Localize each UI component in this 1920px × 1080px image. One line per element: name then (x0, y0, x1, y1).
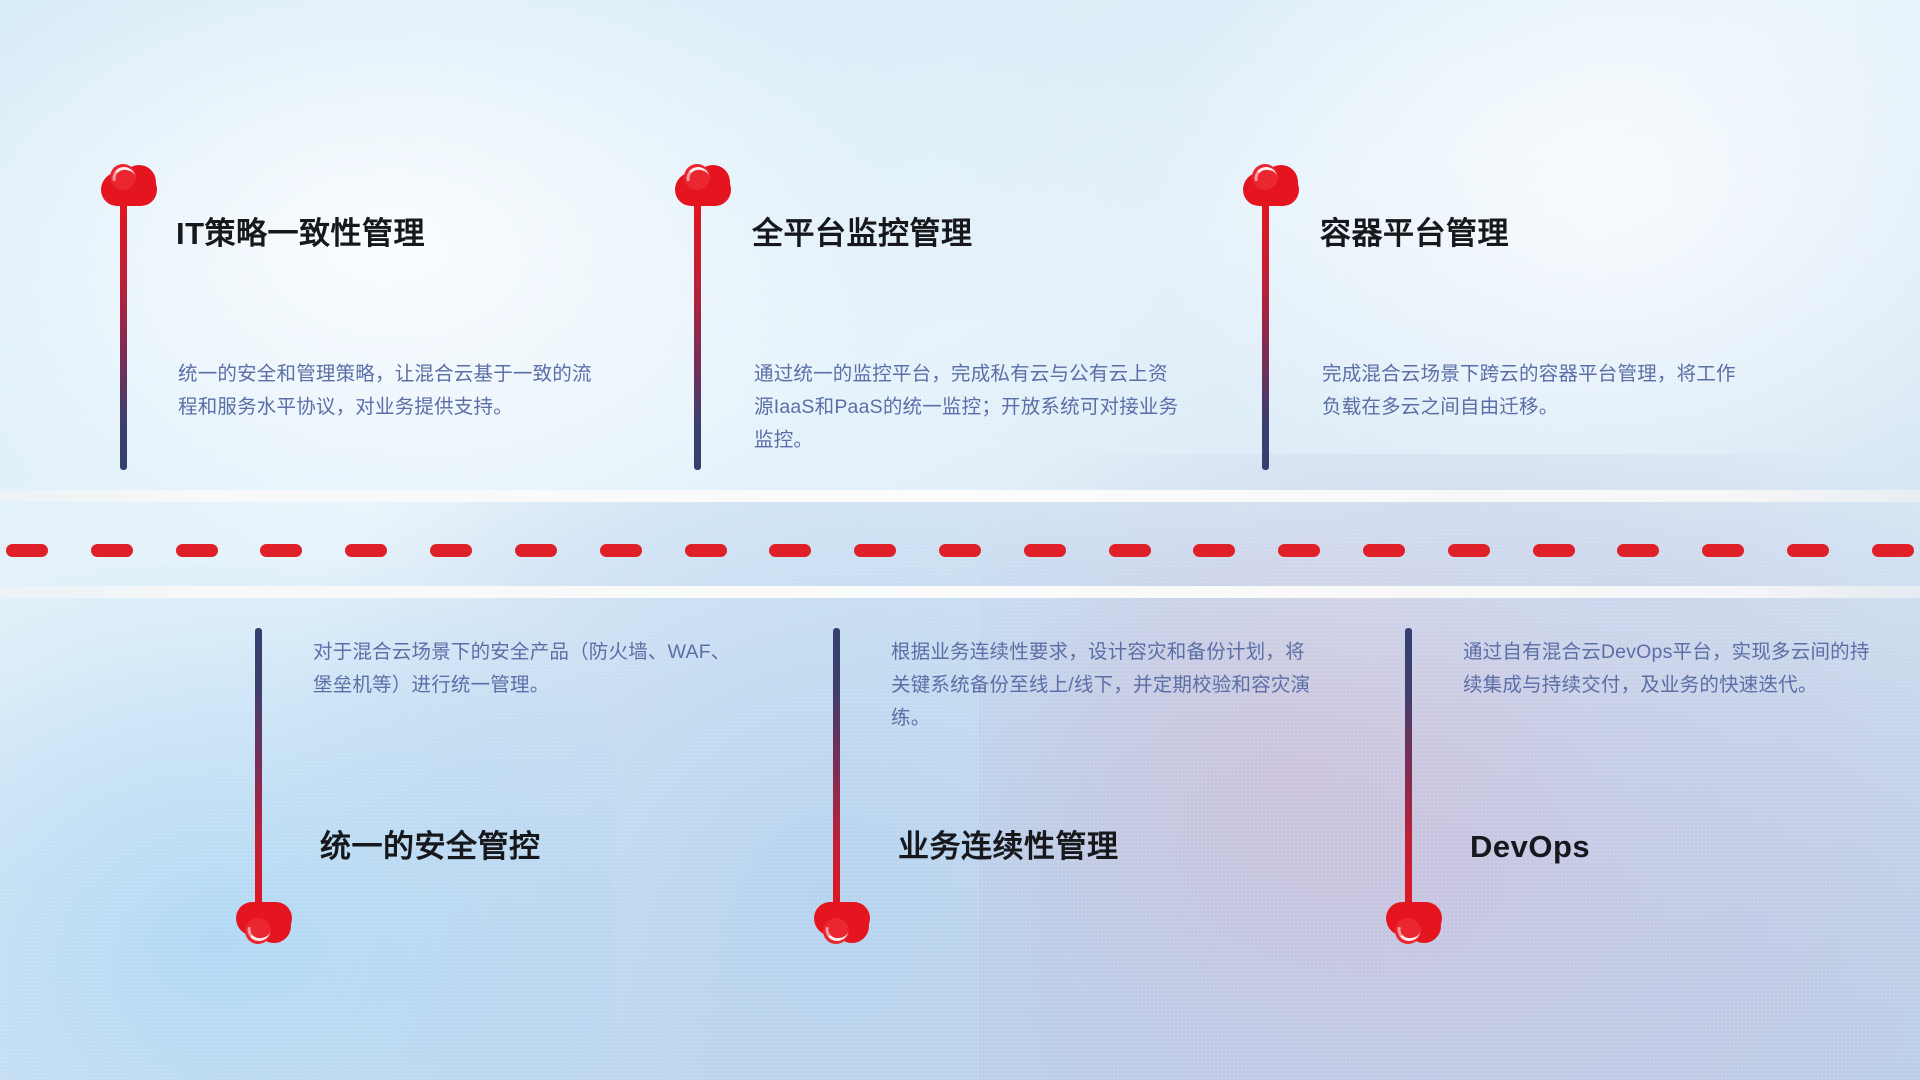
bottom-heading-3: DevOps (1470, 828, 1590, 865)
dash-segment (515, 544, 557, 557)
dash-segment (1363, 544, 1405, 557)
dash-segment (1617, 544, 1659, 557)
dash-segment (1533, 544, 1575, 557)
cloud-icon (672, 162, 734, 208)
dash-segment (91, 544, 133, 557)
connector-stem (120, 200, 127, 470)
dash-segment (1278, 544, 1320, 557)
divider-band-top (0, 490, 1920, 502)
dash-segment (1787, 544, 1829, 557)
dash-segment (939, 544, 981, 557)
top-heading-3: 容器平台管理 (1320, 215, 1509, 252)
top-heading-1: IT策略一致性管理 (176, 215, 425, 252)
dash-segment (260, 544, 302, 557)
cloud-icon (811, 900, 873, 946)
dash-segment (1109, 544, 1151, 557)
dash-segment (600, 544, 642, 557)
bottom-heading-2: 业务连续性管理 (898, 828, 1119, 865)
connector-stem (833, 628, 840, 918)
cloud-icon (1240, 162, 1302, 208)
dash-segment (1702, 544, 1744, 557)
infographic-canvas: IT策略一致性管理 统一的安全和管理策略，让混合云基于一致的流程和服务水平协议，… (0, 0, 1920, 1080)
dash-segment (1872, 544, 1914, 557)
dash-segment (1024, 544, 1066, 557)
connector-stem (1262, 200, 1269, 470)
connector-stem (255, 628, 262, 918)
dash-segment (854, 544, 896, 557)
dash-segment (769, 544, 811, 557)
dash-segment (685, 544, 727, 557)
top-heading-2: 全平台监控管理 (752, 215, 973, 252)
cloud-icon (98, 162, 160, 208)
top-body-3: 完成混合云场景下跨云的容器平台管理，将工作负载在多云之间自由迁移。 (1322, 358, 1742, 424)
bottom-body-1: 对于混合云场景下的安全产品（防火墙、WAF、堡垒机等）进行统一管理。 (313, 636, 733, 702)
dash-segment (345, 544, 387, 557)
dash-segment (1193, 544, 1235, 557)
dash-segment (176, 544, 218, 557)
divider-band-bottom (0, 586, 1920, 598)
connector-stem (1405, 628, 1412, 918)
top-body-2: 通过统一的监控平台，完成私有云与公有云上资源IaaS和PaaS的统一监控；开放系… (754, 358, 1186, 457)
cloud-icon (233, 900, 295, 946)
cloud-icon (1383, 900, 1445, 946)
bottom-body-2: 根据业务连续性要求，设计容灾和备份计划，将关键系统备份至线上/线下，并定期校验和… (891, 636, 1311, 735)
dash-segment (6, 544, 48, 557)
bottom-heading-1: 统一的安全管控 (320, 828, 541, 865)
dash-segment (1448, 544, 1490, 557)
connector-stem (694, 200, 701, 470)
dashed-red-line (0, 543, 1920, 557)
bottom-body-3: 通过自有混合云DevOps平台，实现多云间的持续集成与持续交付，及业务的快速迭代… (1463, 636, 1883, 702)
dash-segment (430, 544, 472, 557)
top-body-1: 统一的安全和管理策略，让混合云基于一致的流程和服务水平协议，对业务提供支持。 (178, 358, 610, 424)
